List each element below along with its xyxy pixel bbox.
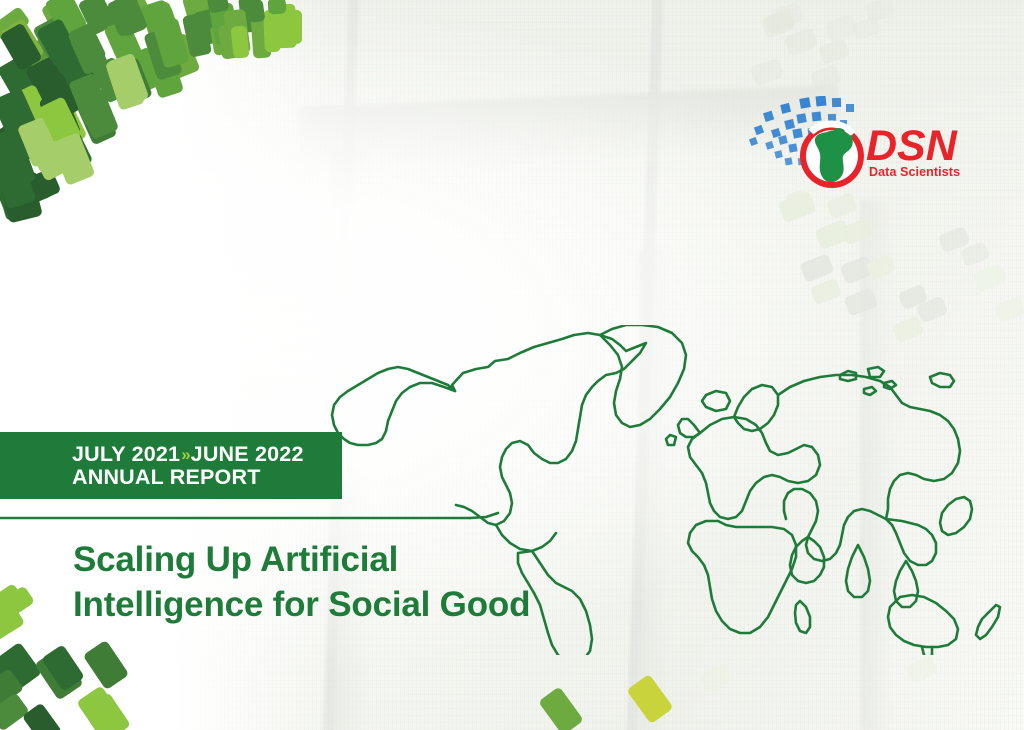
report-period-line: JULY 2021»JUNE 2022 xyxy=(72,443,304,466)
period-start: JULY 2021 xyxy=(72,442,180,466)
period-end: JUNE 2022 xyxy=(191,442,304,466)
globe-icon xyxy=(803,124,861,185)
report-period-banner: JULY 2021»JUNE 2022 ANNUAL REPORT xyxy=(0,432,342,499)
page-title-line-1: Scaling Up Artificial xyxy=(73,538,693,583)
report-label: ANNUAL REPORT xyxy=(72,466,304,489)
decor-chip-green xyxy=(286,10,302,44)
banner-text-group: JULY 2021»JUNE 2022 ANNUAL REPORT xyxy=(0,443,304,489)
page-title-line-2: Intelligence for Social Good xyxy=(73,583,693,628)
period-separator-icon: » xyxy=(180,445,190,464)
logo-tagline: Data Scientists Network xyxy=(869,165,963,179)
page-title: Scaling Up Artificial Intelligence for S… xyxy=(73,538,693,628)
decor-chip-green xyxy=(267,0,286,15)
decor-chip-green xyxy=(247,0,266,23)
dsn-logo[interactable]: DSN Data Scientists Network xyxy=(748,96,963,192)
report-cover-page: JULY 2021»JUNE 2022 ANNUAL REPORT Scalin… xyxy=(0,0,1024,730)
logo-wordmark: DSN xyxy=(866,122,958,170)
decor-chip-green xyxy=(230,25,249,58)
